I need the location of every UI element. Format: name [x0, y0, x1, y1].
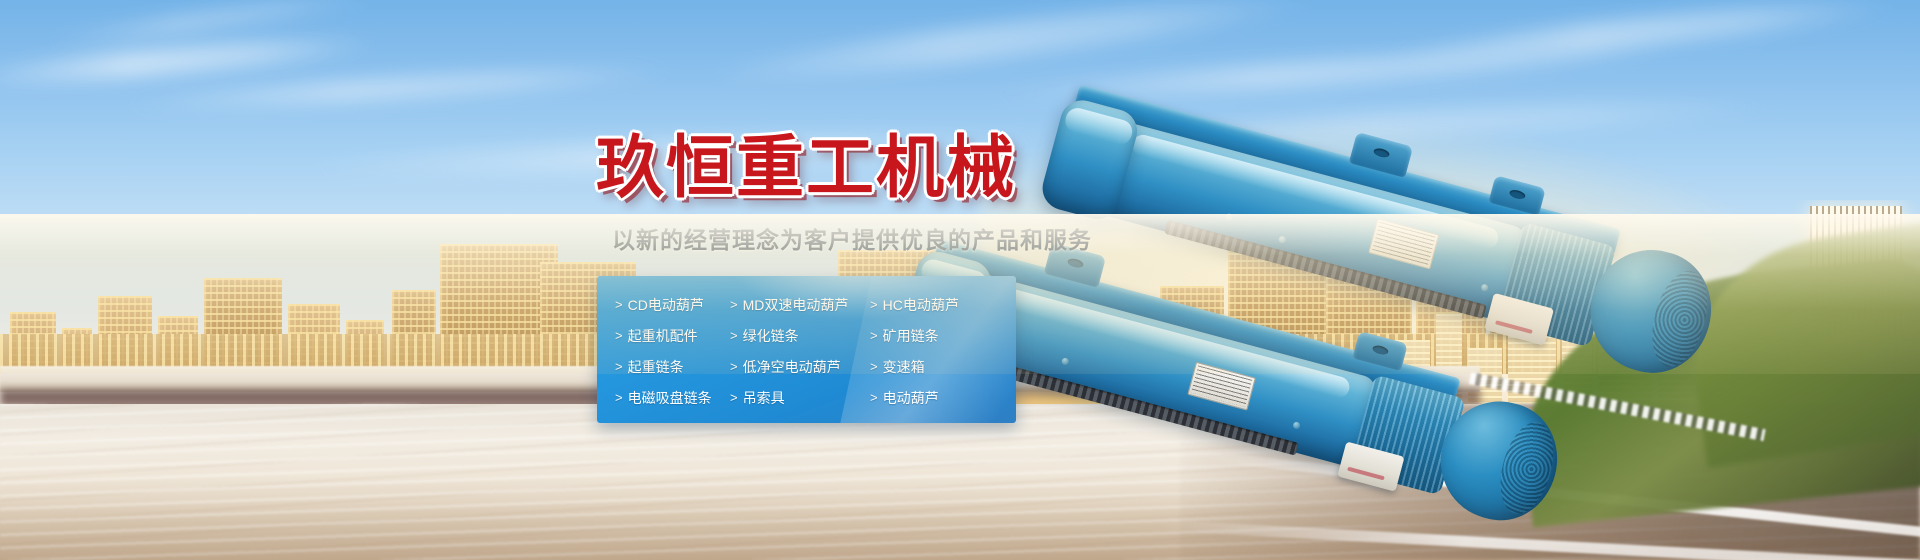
product-link-label: 矿用链条	[883, 326, 939, 346]
product-link-greening-chain[interactable]: > 绿化链条	[730, 326, 870, 346]
product-link-electric-hoist[interactable]: > 电动葫芦	[870, 388, 1016, 408]
product-link-label: 吊索具	[743, 388, 785, 408]
product-link-label: MD双速电动葫芦	[743, 295, 849, 315]
chevron-right-icon: >	[615, 359, 623, 374]
lug-hole	[1373, 147, 1391, 159]
product-links-panel: > CD电动葫芦 > MD双速电动葫芦 > HC电动葫芦 > 起重机配件 > 绿…	[597, 276, 1016, 423]
electric-hoist-group	[1030, 40, 1920, 460]
lug-hole	[1067, 257, 1085, 269]
chevron-right-icon: >	[730, 390, 738, 405]
product-link-mining-chain[interactable]: > 矿用链条	[870, 326, 1016, 346]
gearbox-highlight	[1062, 105, 1135, 147]
product-link-label: HC电动葫芦	[883, 295, 959, 315]
chevron-right-icon: >	[870, 390, 878, 405]
product-link-slings[interactable]: > 吊索具	[730, 388, 870, 408]
fan-grill	[1643, 265, 1717, 372]
product-link-label: 变速箱	[883, 357, 925, 377]
product-link-label: 绿化链条	[743, 326, 799, 346]
product-link-md-dual-speed-hoist[interactable]: > MD双速电动葫芦	[730, 295, 870, 315]
product-link-label: 起重机配件	[628, 326, 698, 346]
product-link-gearbox[interactable]: > 变速箱	[870, 357, 1016, 377]
chevron-right-icon: >	[870, 297, 878, 312]
chevron-right-icon: >	[615, 328, 623, 343]
product-link-magnetic-chuck-chain[interactable]: > 电磁吸盘链条	[615, 388, 730, 408]
chevron-right-icon: >	[870, 359, 878, 374]
product-links-grid: > CD电动葫芦 > MD双速电动葫芦 > HC电动葫芦 > 起重机配件 > 绿…	[597, 276, 1016, 423]
page-subtitle: 以新的经营理念为客户提供优良的产品和服务	[612, 221, 1092, 255]
product-link-crane-parts[interactable]: > 起重机配件	[615, 326, 730, 346]
product-link-cd-electric-hoist[interactable]: > CD电动葫芦	[615, 295, 730, 315]
lug-hole	[1372, 344, 1390, 356]
chevron-right-icon: >	[870, 328, 878, 343]
product-link-hc-electric-hoist[interactable]: > HC电动葫芦	[870, 295, 1016, 315]
product-link-lifting-chain[interactable]: > 起重链条	[615, 357, 730, 377]
page-title: 玖恒重工机械	[596, 134, 1016, 202]
product-link-label: 起重链条	[628, 357, 684, 377]
chevron-right-icon: >	[730, 328, 738, 343]
product-link-label: 低净空电动葫芦	[743, 357, 841, 377]
junction-box-label	[1495, 320, 1533, 334]
product-link-low-headroom-hoist[interactable]: > 低净空电动葫芦	[730, 357, 870, 377]
chevron-right-icon: >	[615, 297, 623, 312]
product-link-label: 电动葫芦	[883, 388, 939, 408]
chevron-right-icon: >	[730, 359, 738, 374]
junction-box-label	[1347, 467, 1384, 480]
fan-grill	[1491, 416, 1562, 520]
chevron-right-icon: >	[730, 297, 738, 312]
product-link-label: 电磁吸盘链条	[628, 388, 712, 408]
lug-hole	[1509, 189, 1527, 201]
hero-banner: 玖恒重工机械 以新的经营理念为客户提供优良的产品和服务 > CD电动葫芦 > M…	[0, 0, 1920, 560]
chevron-right-icon: >	[615, 390, 623, 405]
product-link-label: CD电动葫芦	[628, 295, 704, 315]
